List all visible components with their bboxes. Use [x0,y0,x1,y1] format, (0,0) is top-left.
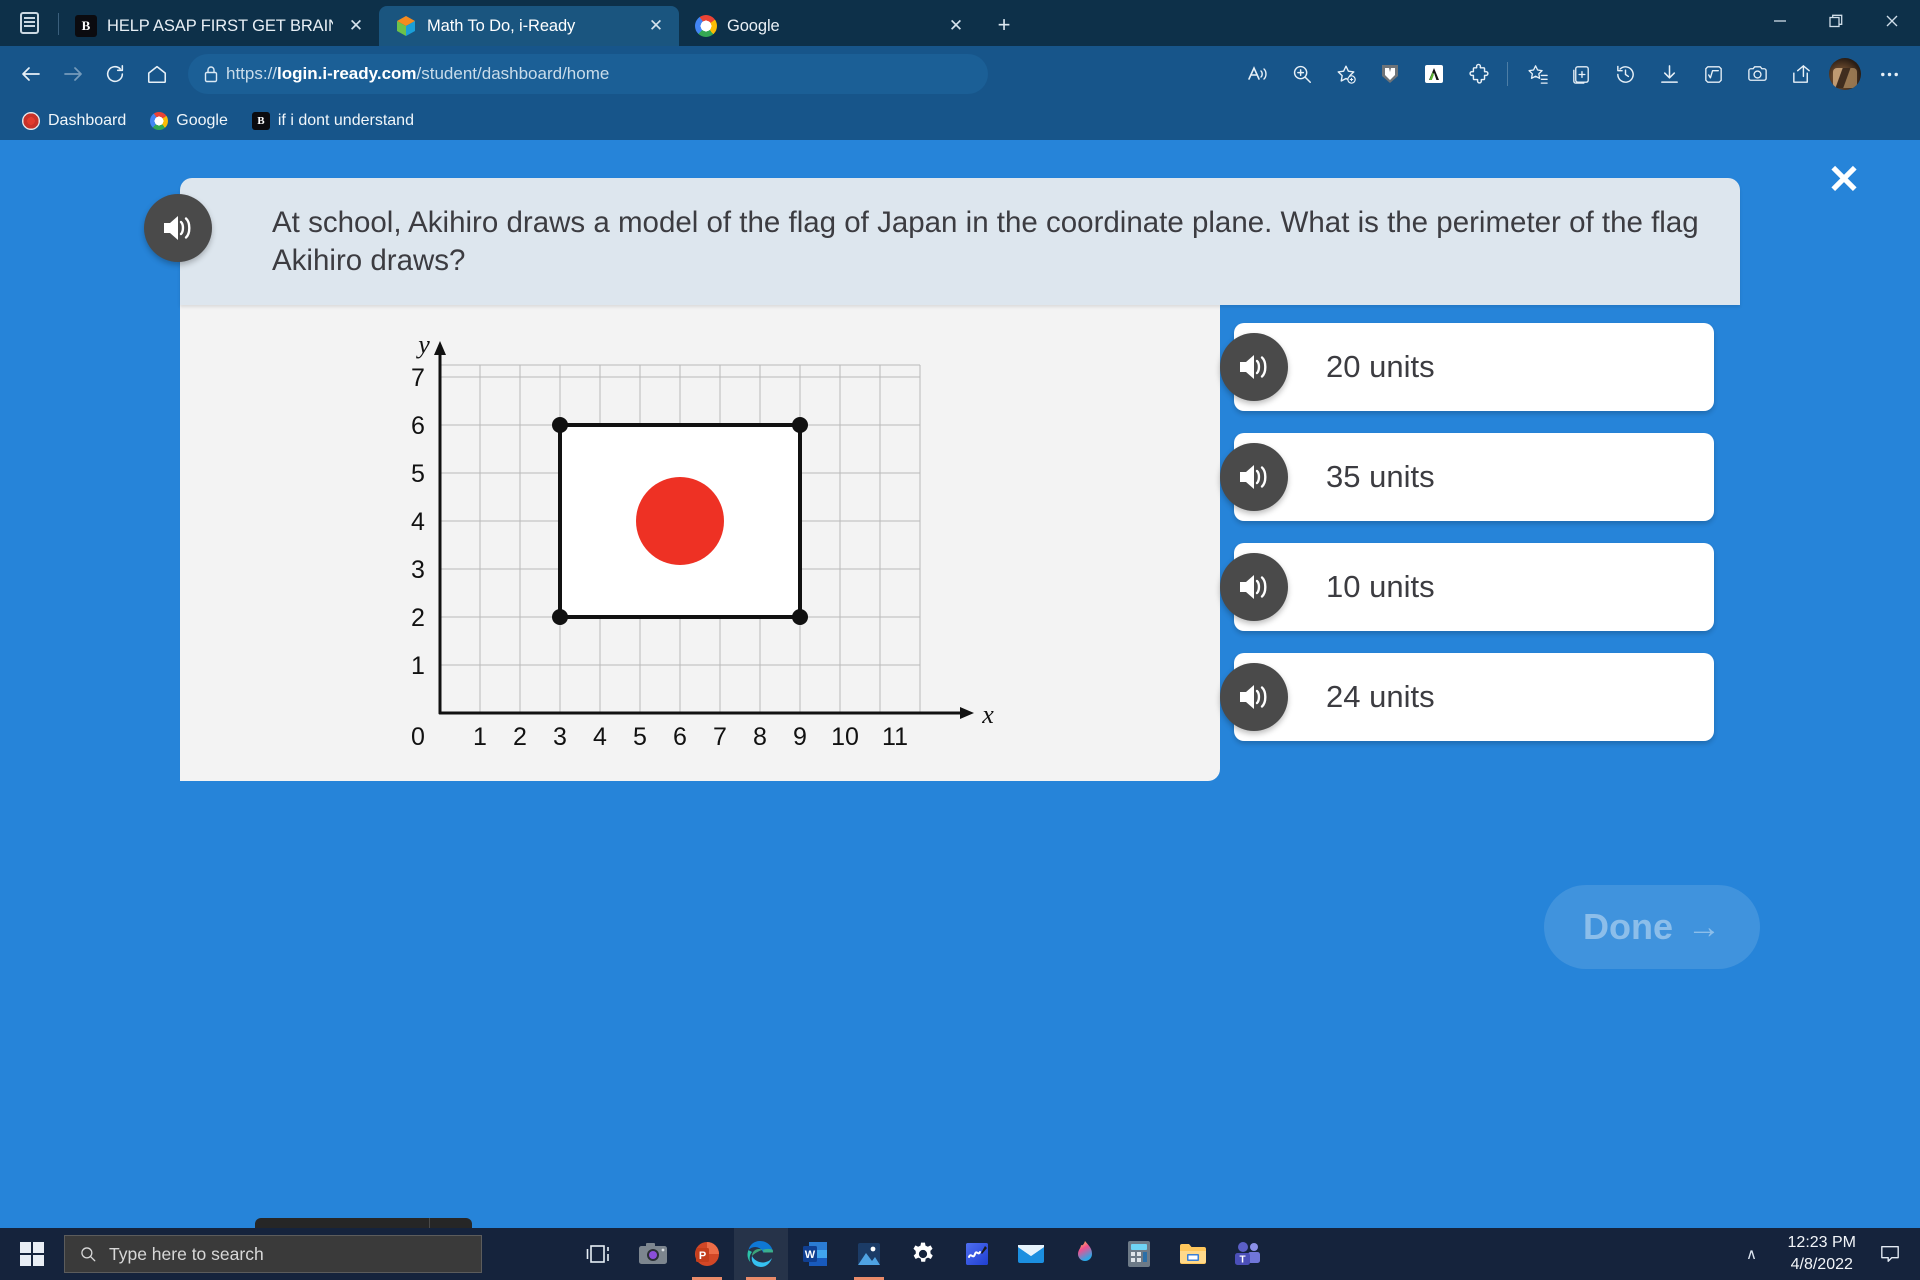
svg-text:7: 7 [713,723,727,751]
tab-title: HELP ASAP FIRST GET BRAINIEST [107,17,333,36]
zoom-icon[interactable] [1281,53,1323,95]
navigation-toolbar: https://login.i-ready.com/student/dashbo… [0,46,1920,102]
tab-strip: B HELP ASAP FIRST GET BRAINIEST ✕ Math T… [0,0,1920,46]
svg-text:4: 4 [411,508,425,536]
dashboard-icon [22,112,40,130]
maximize-restore-button[interactable] [1808,0,1864,42]
svg-text:6: 6 [411,412,425,440]
svg-text:4: 4 [593,723,607,751]
address-bar[interactable]: https://login.i-ready.com/student/dashbo… [188,54,988,94]
reload-icon[interactable] [94,53,136,95]
read-aloud-icon[interactable] [1237,53,1279,95]
close-window-button[interactable] [1864,0,1920,42]
camera-icon[interactable] [626,1228,680,1280]
url-text: https://login.i-ready.com/student/dashbo… [226,64,609,84]
new-tab-button[interactable]: + [985,6,1023,44]
arrow-right-icon: → [1687,910,1721,944]
svg-text:8: 8 [753,723,767,751]
bookmark-label: if i dont understand [278,112,414,130]
question-panel: At school, Akihiro draws a model of the … [180,178,1740,305]
answer-label: 20 units [1326,349,1435,385]
question-text: At school, Akihiro draws a model of the … [272,204,1700,281]
done-button[interactable]: Done → [1544,885,1760,969]
microsoft-edge-icon[interactable] [734,1228,788,1280]
screenshot-icon[interactable] [1736,53,1778,95]
extension-adblock-icon[interactable] [1413,53,1455,95]
bookmark-label: Dashboard [48,112,126,130]
x-axis-arrow [960,707,974,719]
coordinate-plane-graph: y x 1 2 3 4 5 6 7 [390,325,1010,755]
iready-lesson-page: ✕ At school, Akihiro draws a model of th… [0,140,1920,1228]
toolbar-actions [1237,53,1910,95]
question-body: y x 1 2 3 4 5 6 7 [180,305,1740,781]
svg-text:9: 9 [793,723,807,751]
tab-close-icon[interactable]: ✕ [943,13,969,39]
close-lesson-button[interactable]: ✕ [1822,158,1866,202]
notification-icon[interactable] [1870,1228,1910,1280]
bookmark-google[interactable]: Google [140,108,238,134]
coordinate-plane-panel: y x 1 2 3 4 5 6 7 [180,305,1220,781]
minimize-button[interactable] [1752,0,1808,42]
answer-option-1[interactable]: 35 units [1234,433,1714,521]
url-domain: login.i-ready.com [277,64,417,83]
graph-svg: y x 1 2 3 4 5 6 7 [390,325,1010,755]
answer-speaker-icon[interactable] [1220,333,1288,401]
question-speaker-icon[interactable] [144,194,212,262]
windows-start-icon[interactable] [0,1228,64,1280]
answer-option-2[interactable]: 10 units [1234,543,1714,631]
tab-title: Math To Do, i-Ready [427,17,633,36]
share-icon[interactable] [1780,53,1822,95]
google-icon [150,112,168,130]
search-icon [79,1245,97,1263]
svg-text:0: 0 [411,723,425,751]
lock-icon [196,65,226,83]
svg-text:11: 11 [882,723,908,751]
y-tick-labels: 1 2 3 4 5 6 7 [411,364,425,680]
answer-option-3[interactable]: 24 units [1234,653,1714,741]
answer-label: 10 units [1326,569,1435,605]
collections-icon[interactable] [1560,53,1602,95]
search-placeholder: Type here to search [109,1244,264,1265]
tab-title: Google [727,17,933,36]
svg-text:10: 10 [831,723,859,751]
history-icon[interactable] [1604,53,1646,95]
add-favorite-icon[interactable] [1325,53,1367,95]
flag-sun-circle [636,477,724,565]
tab-actions-button[interactable] [0,0,58,46]
y-axis-label: y [415,330,430,359]
url-path: /student/dashboard/home [417,64,610,83]
browser-window: B HELP ASAP FIRST GET BRAINIEST ✕ Math T… [0,0,1920,1280]
brainly-icon: B [252,112,270,130]
bookmark-dashboard[interactable]: Dashboard [12,108,136,134]
svg-text:7: 7 [411,364,425,392]
svg-text:5: 5 [411,460,425,488]
svg-text:2: 2 [411,604,425,632]
answer-choices-panel: 20 units 35 units [1220,305,1740,781]
home-icon[interactable] [136,53,178,95]
system-tray: ∧ 12:23 PM 4/8/2022 [1730,1228,1920,1280]
question-card: At school, Akihiro draws a model of the … [180,178,1740,781]
file-explorer-icon[interactable] [1166,1228,1220,1280]
svg-text:1: 1 [473,723,487,751]
svg-text:1: 1 [411,652,425,680]
avatar [1829,58,1861,90]
answer-label: 35 units [1326,459,1435,495]
svg-text:W: W [805,1249,816,1261]
powerpoint-icon[interactable]: P [680,1228,734,1280]
calculator-icon[interactable] [1112,1228,1166,1280]
clock-date: 4/8/2022 [1788,1254,1856,1276]
tab-close-icon[interactable]: ✕ [643,13,669,39]
mail-icon[interactable] [1004,1228,1058,1280]
firefox-icon[interactable] [1058,1228,1112,1280]
google-icon [695,15,717,37]
downloads-icon[interactable] [1648,53,1690,95]
extension-mcafee-icon[interactable] [1369,53,1411,95]
answer-speaker-icon[interactable] [1220,553,1288,621]
bookmark-label: Google [176,112,228,130]
browser-tab-2[interactable]: Google ✕ [679,6,979,46]
x-axis-label: x [981,700,994,729]
bookmark-if-i-dont-understand[interactable]: B if i dont understand [242,108,424,134]
chevron-up-icon[interactable]: ∧ [1730,1228,1774,1280]
answer-label: 24 units [1326,679,1435,715]
answer-speaker-icon[interactable] [1220,663,1288,731]
window-controls [1752,0,1920,42]
favorites-icon[interactable] [1516,53,1558,95]
iready-icon [395,15,417,37]
clock[interactable]: 12:23 PM 4/8/2022 [1776,1232,1868,1275]
browser-tab-1[interactable]: Math To Do, i-Ready ✕ [379,6,679,46]
bookmarks-bar: Dashboard Google B if i dont understand [0,102,1920,140]
profile-avatar[interactable] [1824,53,1866,95]
toolbar-divider [1507,62,1508,86]
url-prefix: https:// [226,64,277,83]
tab-close-icon[interactable]: ✕ [343,13,369,39]
forward-arrow-icon[interactable] [52,53,94,95]
math-solver-icon[interactable] [1692,53,1734,95]
svg-text:P: P [699,1250,706,1262]
whiteboard-icon[interactable] [950,1228,1004,1280]
svg-text:2: 2 [513,723,527,751]
extensions-puzzle-icon[interactable] [1457,53,1499,95]
settings-more-icon[interactable] [1868,53,1910,95]
svg-text:6: 6 [673,723,687,751]
svg-text:3: 3 [411,556,425,584]
answer-speaker-icon[interactable] [1220,443,1288,511]
task-view-icon[interactable] [572,1228,626,1280]
settings-icon[interactable] [896,1228,950,1280]
answer-option-0[interactable]: 20 units [1234,323,1714,411]
x-tick-labels: 0 1 2 3 4 5 6 7 8 9 10 1 [411,723,908,751]
done-label: Done [1583,906,1673,948]
tab-overview-icon [20,12,39,34]
svg-text:5: 5 [633,723,647,751]
clock-time: 12:23 PM [1788,1232,1856,1254]
brainly-icon: B [75,15,97,37]
windows-taskbar: Type here to search P W [0,1228,1920,1280]
y-axis-arrow [434,341,446,355]
back-arrow-icon[interactable] [10,53,52,95]
browser-tab-0[interactable]: B HELP ASAP FIRST GET BRAINIEST ✕ [59,6,379,46]
taskbar-search-input[interactable]: Type here to search [64,1235,482,1273]
svg-text:3: 3 [553,723,567,751]
photos-icon[interactable] [842,1228,896,1280]
teams-icon[interactable]: T [1220,1228,1274,1280]
word-icon[interactable]: W [788,1228,842,1280]
svg-text:T: T [1239,1255,1245,1266]
